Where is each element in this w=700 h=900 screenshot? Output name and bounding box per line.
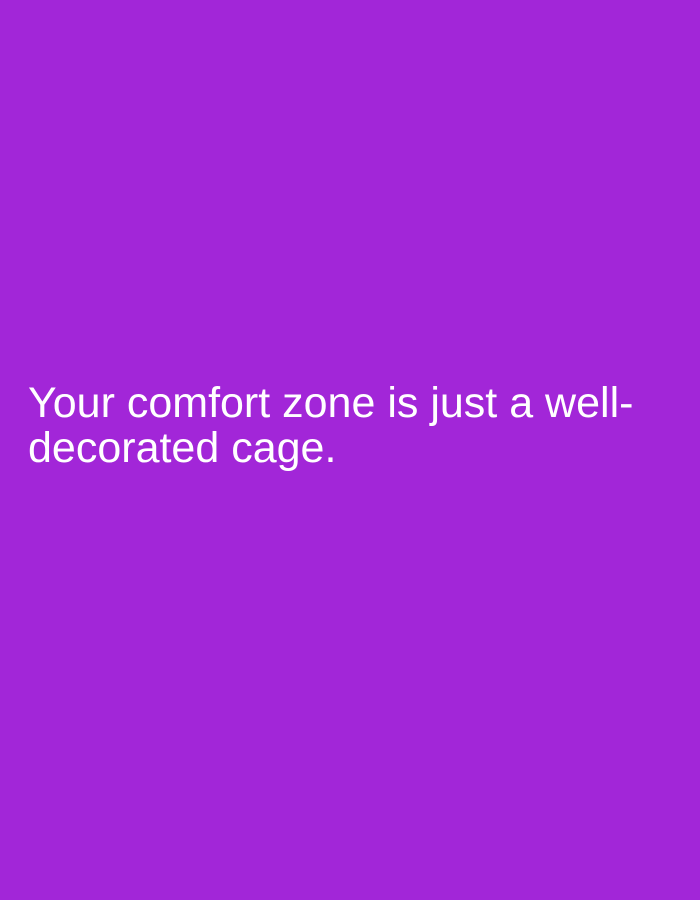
quote-text-block: Your comfort zone is just a well-decorat… bbox=[0, 381, 700, 471]
quote-text: Your comfort zone is just a well-decorat… bbox=[28, 381, 645, 471]
quote-card: Your comfort zone is just a well-decorat… bbox=[0, 0, 700, 900]
